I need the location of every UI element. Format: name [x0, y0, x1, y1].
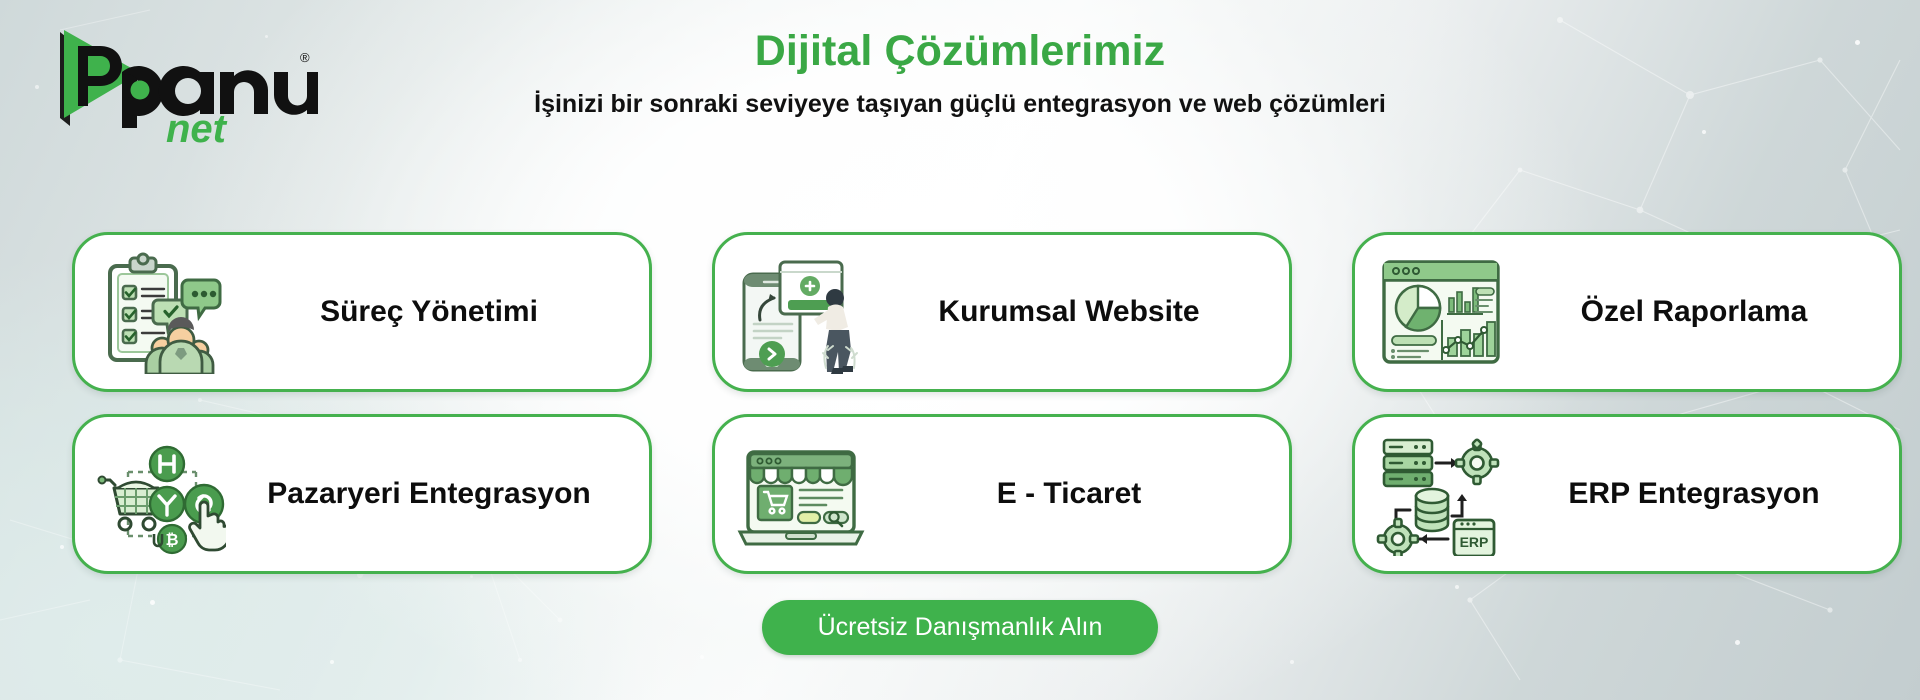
cta-container: Ücretsiz Danışmanlık Alın — [0, 600, 1920, 655]
person-building-website-icon — [731, 247, 871, 377]
service-card-label: E - Ticaret — [871, 477, 1289, 512]
service-card-label: Kurumsal Website — [871, 295, 1289, 330]
service-card-label: Süreç Yönetimi — [231, 295, 649, 330]
service-card-kurumsal-website[interactable]: Kurumsal Website — [712, 232, 1292, 392]
service-card-label: ERP Entegrasyon — [1511, 477, 1899, 512]
logo-net-text: net — [166, 107, 228, 146]
storefront-laptop-icon — [731, 429, 871, 559]
promo-banner: ® net Dijital Çözümlerimiz İşinizi bir s… — [0, 0, 1920, 700]
free-consultation-button[interactable]: Ücretsiz Danışmanlık Alın — [762, 600, 1159, 655]
service-card-e-ticaret[interactable]: E - Ticaret — [712, 414, 1292, 574]
service-card-label: Özel Raporlama — [1511, 295, 1899, 330]
logo-registered-mark: ® — [300, 50, 310, 65]
server-database-gears-erp-icon: ERP — [1371, 429, 1511, 559]
clipboard-checklist-team-icon — [91, 247, 231, 377]
service-card-surec-yonetimi[interactable]: Süreç Yönetimi — [72, 232, 652, 392]
svg-text:ERP: ERP — [1460, 534, 1489, 550]
panunet-logo[interactable]: ® net — [48, 26, 318, 146]
page-title: Dijital Çözümlerimiz — [330, 26, 1590, 77]
service-card-grid: Süreç Yönetimi — [72, 232, 1862, 574]
service-card-pazaryeri-entegrasyon[interactable]: ₿ Pazaryeri Entegrasyon — [72, 414, 652, 574]
shopping-cart-marketplace-link-icon: ₿ — [91, 429, 231, 559]
dashboard-charts-icon — [1371, 247, 1511, 377]
panunet-logo-svg: ® net — [48, 26, 318, 146]
service-card-erp-entegrasyon[interactable]: ERP ERP Entegrasyon — [1352, 414, 1902, 574]
header-block: Dijital Çözümlerimiz İşinizi bir sonraki… — [330, 26, 1590, 119]
service-card-ozel-raporlama[interactable]: Özel Raporlama — [1352, 232, 1902, 392]
service-card-label: Pazaryeri Entegrasyon — [231, 477, 649, 512]
svg-text:₿: ₿ — [165, 531, 178, 549]
logo-wordmark-net: net — [166, 107, 228, 146]
page-subtitle: İşinizi bir sonraki seviyeye taşıyan güç… — [330, 89, 1590, 119]
